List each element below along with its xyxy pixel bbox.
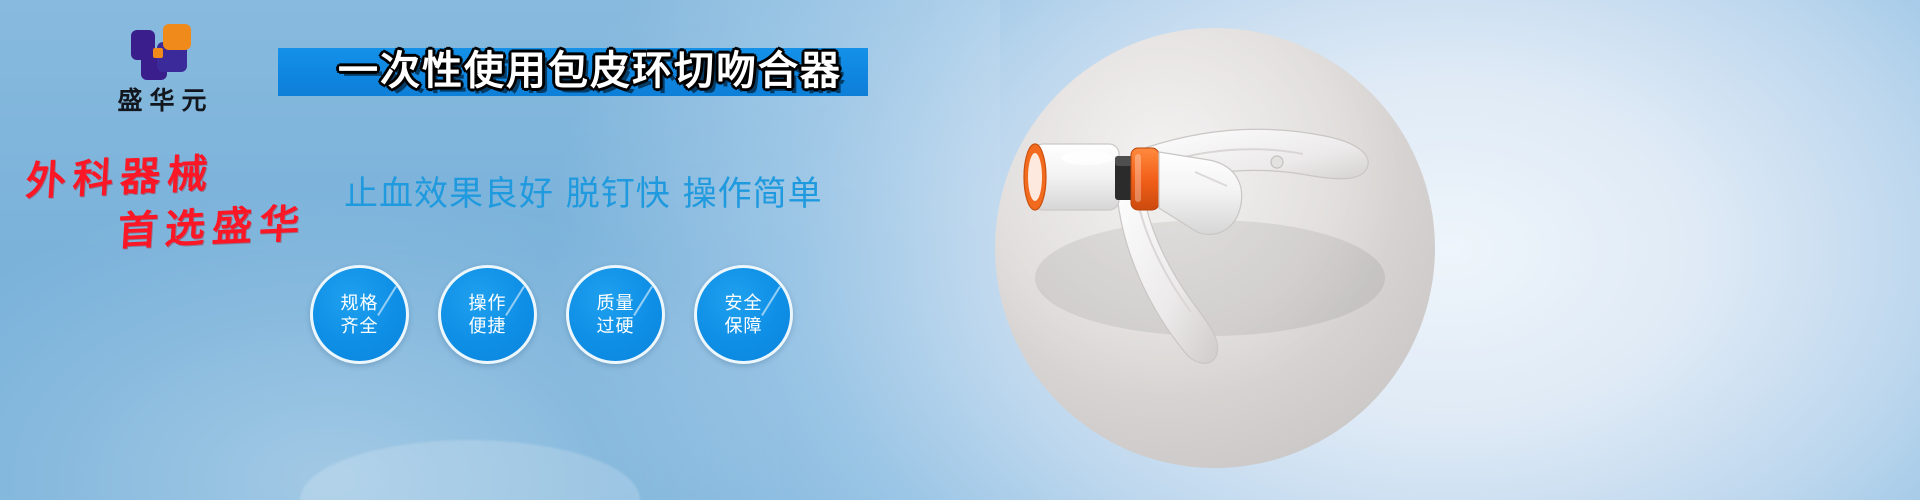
- feature-badge-1-line1: 规格: [341, 292, 379, 315]
- brand-name: 盛华元: [62, 88, 262, 113]
- calligraphy-line-1: 外科器械: [24, 154, 215, 202]
- feature-badge-3-line2: 过硬: [597, 315, 635, 338]
- slash-decoration-icon: [633, 286, 653, 316]
- slash-decoration-icon: [377, 286, 397, 316]
- logo-dot-orange: [153, 48, 163, 58]
- feature-badge-3[interactable]: 质量 过硬: [566, 265, 665, 364]
- logo-block-orange: [163, 24, 191, 50]
- circumcision-stapler-illustration: [995, 28, 1435, 468]
- product-image[interactable]: [995, 28, 1435, 468]
- page-title: 一次性使用包皮环切吻合器: [290, 44, 890, 98]
- slash-decoration-icon: [761, 286, 781, 316]
- logo-mark-icon: [131, 24, 193, 82]
- feature-badge-3-line1: 质量: [597, 292, 635, 315]
- brand-logo[interactable]: 盛华元: [62, 24, 262, 113]
- page-subtitle: 止血效果良好 脱钉快 操作简单: [344, 166, 823, 215]
- promo-banner: 盛华元 外科器械 首选盛华 一次性使用包皮环切吻合器 止血效果良好 脱钉快 操作…: [0, 0, 1920, 500]
- feature-badge-4[interactable]: 安全 保障: [694, 265, 793, 364]
- calligraphy-line-2: 首选盛华: [116, 204, 307, 252]
- feature-badge-2[interactable]: 操作 便捷: [438, 265, 537, 364]
- feature-badge-2-line1: 操作: [469, 292, 507, 315]
- feature-badge-4-line2: 保障: [725, 315, 763, 338]
- slash-decoration-icon: [505, 286, 525, 316]
- feature-badge-list: 规格 齐全 操作 便捷 质量 过硬 安全 保障: [310, 265, 793, 364]
- feature-badge-4-line1: 安全: [725, 292, 763, 315]
- feature-badge-2-line2: 便捷: [469, 315, 507, 338]
- bottom-arc-decoration: [300, 440, 640, 500]
- feature-badge-1-line2: 齐全: [341, 315, 379, 338]
- feature-badge-1[interactable]: 规格 齐全: [310, 265, 409, 364]
